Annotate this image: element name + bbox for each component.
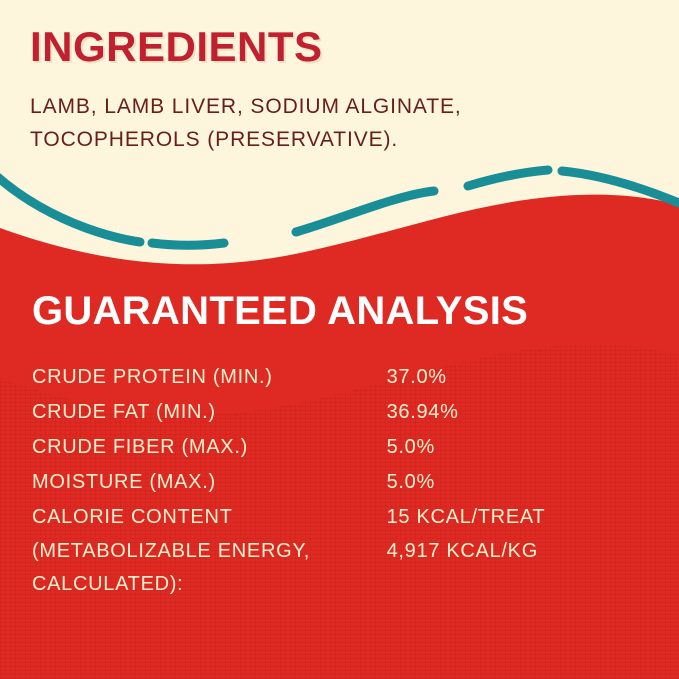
nutrient-value: 15 KCAL/TREAT [387, 500, 647, 535]
nutrient-value: 36.94% [387, 395, 647, 430]
nutrient-label-line1: (METABOLIZABLE ENERGY, [32, 540, 310, 562]
nutrient-label: MOISTURE (MAX.) [32, 465, 387, 500]
nutrient-value: 4,917 KCAL/KG [387, 535, 647, 601]
guaranteed-analysis-table: CRUDE PROTEIN (MIN.) 37.0% CRUDE FAT (MI… [32, 360, 647, 601]
guaranteed-analysis-heading: GUARANTEED ANALYSIS [32, 288, 647, 334]
nutrient-label: CRUDE FAT (MIN.) [32, 395, 387, 430]
teal-stitch-dashes [0, 170, 679, 245]
table-row: CRUDE FAT (MIN.) 36.94% [32, 395, 647, 430]
nutrient-value: 5.0% [387, 465, 647, 500]
nutrient-label: CALORIE CONTENT [32, 500, 387, 535]
nutrient-value: 37.0% [387, 360, 647, 395]
stitch-dash-4 [468, 170, 548, 186]
ingredients-list-text: LAMB, LAMB LIVER, SODIUM ALGINATE, TOCOP… [30, 90, 590, 156]
table-row: CRUDE FIBER (MAX.) 5.0% [32, 430, 647, 465]
nutrient-label: (METABOLIZABLE ENERGY, CALCULATED): [32, 535, 387, 601]
nutrient-label: CRUDE PROTEIN (MIN.) [32, 360, 387, 395]
nutrient-label: CRUDE FIBER (MAX.) [32, 430, 387, 465]
guaranteed-analysis-section: GUARANTEED ANALYSIS CRUDE PROTEIN (MIN.)… [32, 288, 647, 601]
table-row: (METABOLIZABLE ENERGY, CALCULATED): 4,91… [32, 535, 647, 601]
ingredients-section: INGREDIENTS LAMB, LAMB LIVER, SODIUM ALG… [30, 24, 630, 156]
stitch-dash-2 [152, 243, 224, 245]
ingredients-heading: INGREDIENTS [30, 24, 630, 70]
stitch-dash-3 [296, 191, 434, 232]
table-row: CALORIE CONTENT 15 KCAL/TREAT [32, 500, 647, 535]
table-row: MOISTURE (MAX.) 5.0% [32, 465, 647, 500]
table-row: CRUDE PROTEIN (MIN.) 37.0% [32, 360, 647, 395]
nutrient-value: 5.0% [387, 430, 647, 465]
stitch-dash-5 [562, 171, 679, 206]
pet-treat-nutrition-label: INGREDIENTS LAMB, LAMB LIVER, SODIUM ALG… [0, 0, 679, 679]
nutrient-label-line2: CALCULATED): [32, 568, 381, 601]
stitch-dash-1 [0, 172, 140, 242]
